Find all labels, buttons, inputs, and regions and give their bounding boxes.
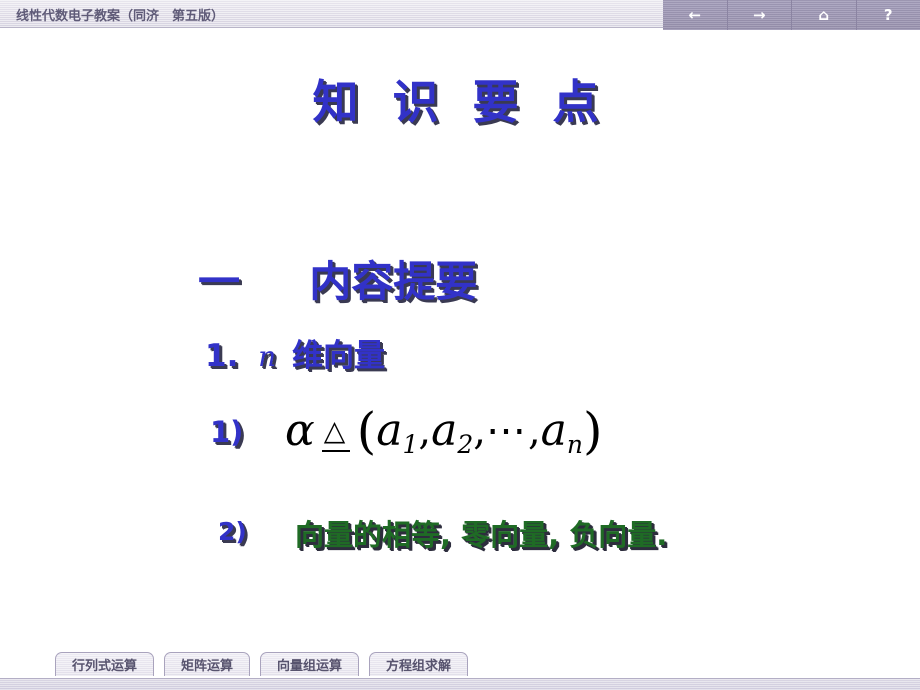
navigation-button-group: ← → ⌂ ? [663, 0, 920, 30]
variable-n: n [249, 340, 281, 373]
formula-term-an: an [541, 409, 583, 453]
footer-strip [0, 678, 920, 690]
section-label: 内容提要 [309, 257, 477, 306]
formula-term-a2: a2 [431, 409, 473, 453]
sub-item-2-text: 向量的相等, 零向量, 负向量. [295, 512, 667, 554]
page-title: 知 识 要 点 [0, 66, 920, 132]
question-mark-icon: ? [884, 8, 893, 23]
defined-as-bar [322, 450, 350, 452]
title-strip: 线性代数电子教案（同济 第五版） [0, 0, 664, 28]
list-item-1: 1. n 维向量 [205, 330, 385, 375]
sub-item-2-marker: 2) [218, 517, 247, 546]
slide-canvas: 知 识 要 点 一 内容提要 1. n 维向量 1) α △ ( a1 , a2… [0, 30, 920, 678]
term-subscript: 2 [457, 430, 473, 459]
home-icon: ⌂ [818, 8, 829, 23]
term-base: a [431, 405, 457, 456]
tab-determinant-operations[interactable]: 行列式运算 [55, 652, 154, 676]
forward-button[interactable]: → [728, 0, 793, 30]
help-button[interactable]: ? [857, 0, 920, 30]
item-label: 维向量 [292, 338, 385, 374]
tab-row: 行列式运算 矩阵运算 向量组运算 方程组求解 [55, 652, 468, 676]
arrow-right-icon: → [753, 8, 766, 23]
formula-vector-definition: α △ ( a1 , a2 , ⋯ , an ) [285, 406, 603, 456]
formula-alpha: α [285, 409, 315, 453]
formula-open-paren: ( [357, 406, 377, 456]
tab-vector-group-operations[interactable]: 向量组运算 [260, 652, 359, 676]
formula-term-a1: a1 [376, 409, 418, 453]
tab-equation-system-solving[interactable]: 方程组求解 [369, 652, 468, 676]
term-base: a [376, 405, 402, 456]
tab-matrix-operations[interactable]: 矩阵运算 [164, 652, 250, 676]
app-title: 线性代数电子教案（同济 第五版） [16, 5, 224, 24]
home-button[interactable]: ⌂ [792, 0, 857, 30]
formula-ellipsis: ⋯ [486, 411, 528, 451]
item-number: 1. [205, 338, 238, 374]
defined-as-icon: △ [321, 409, 351, 453]
back-button[interactable]: ← [663, 0, 728, 30]
section-number: 一 [198, 257, 240, 306]
title-bar: 线性代数电子教案（同济 第五版） ← → ⌂ ? [0, 0, 920, 30]
formula-close-paren: ) [583, 406, 603, 456]
formula-comma-1: , [418, 411, 431, 451]
triangle-glyph: △ [324, 417, 346, 445]
arrow-left-icon: ← [688, 8, 701, 23]
bottom-tab-bar: 行列式运算 矩阵运算 向量组运算 方程组求解 [0, 648, 920, 690]
term-subscript: n [567, 430, 583, 459]
section-heading: 一 内容提要 [198, 248, 477, 309]
term-subscript: 1 [402, 430, 418, 459]
formula-comma-3: , [528, 411, 541, 451]
formula-comma-2: , [473, 411, 486, 451]
term-base: a [541, 405, 567, 456]
sub-item-1-marker: 1) [210, 415, 243, 449]
